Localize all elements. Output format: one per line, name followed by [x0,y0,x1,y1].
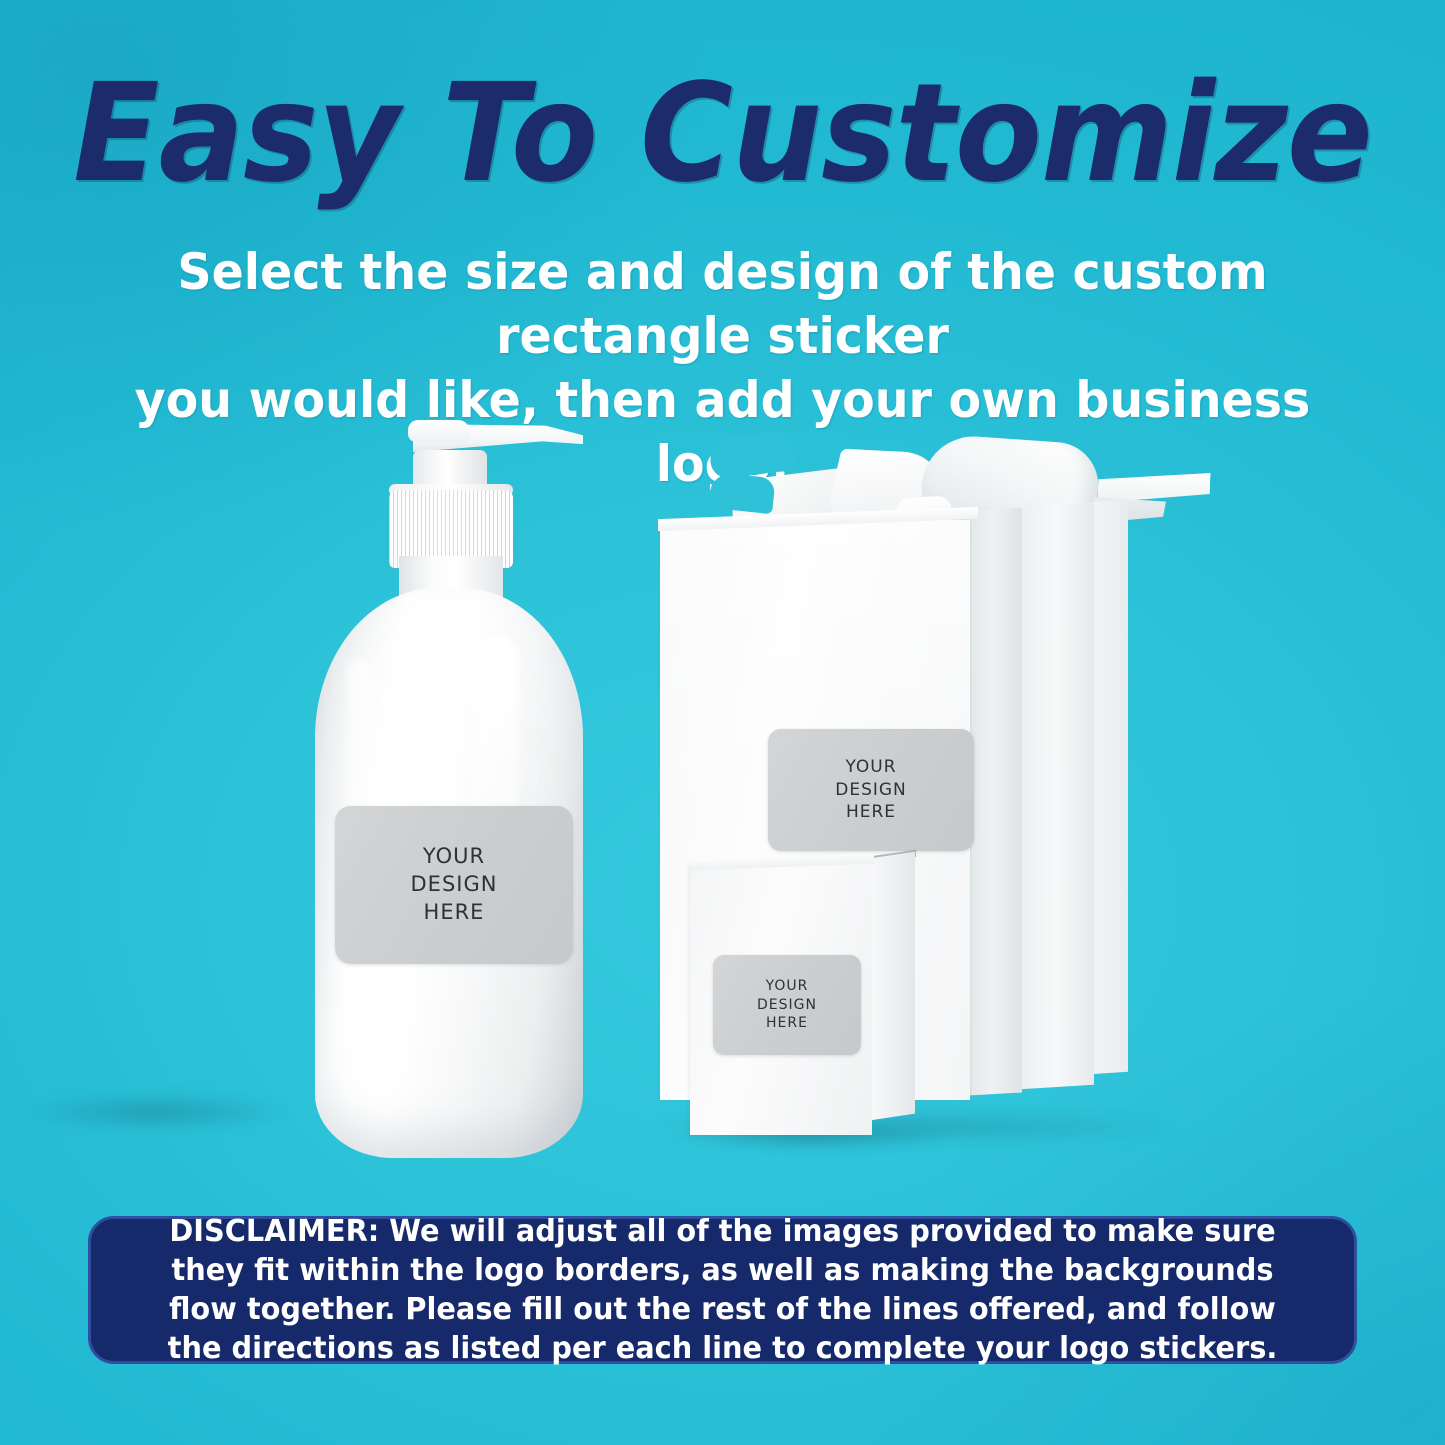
small-box: YOUR DESIGN HERE [690,855,945,1140]
bow-loop-left-hole [708,430,796,480]
sticker-line-3: HERE [846,801,896,823]
bottle-shadow [26,1092,288,1132]
sticker-line-2: DESIGN [835,779,907,801]
sticker-label-gift-box: YOUR DESIGN HERE [768,729,974,851]
page-title: Easy To Customize [51,66,1395,202]
small-box-side-face [870,852,915,1121]
disclaimer-label: DISCLAIMER: [169,1214,379,1249]
sticker-label-bottle: YOUR DESIGN HERE [335,806,573,964]
gift-box-side-far [1090,500,1128,1074]
sticker-line-2: DESIGN [757,996,817,1014]
disclaimer-banner: DISCLAIMER: We will adjust all of the im… [88,1216,1357,1364]
subtitle-line-1: Select the size and design of the custom… [103,240,1343,368]
gift-box-side-mid [1020,503,1094,1089]
gift-box-side-near [968,508,1022,1096]
disclaimer-text: DISCLAIMER: We will adjust all of the im… [141,1212,1304,1368]
sticker-line-1: YOUR [766,977,809,995]
pump-bottle: YOUR DESIGN HERE [295,410,605,1170]
pump-nozzle-head [408,420,470,442]
sticker-line-2: DESIGN [411,871,498,899]
product-mockup-scene: YOUR DESIGN HERE YOUR DESIGN HERE [0,380,1445,1190]
sticker-line-1: YOUR [845,756,896,778]
sticker-label-small-box: YOUR DESIGN HERE [713,955,861,1055]
bow-loop-right-hole [708,472,775,514]
sticker-line-3: HERE [424,899,485,927]
sticker-line-3: HERE [766,1014,808,1032]
promo-banner: Easy To Customize Select the size and de… [0,0,1445,1445]
sticker-line-1: YOUR [423,843,485,871]
